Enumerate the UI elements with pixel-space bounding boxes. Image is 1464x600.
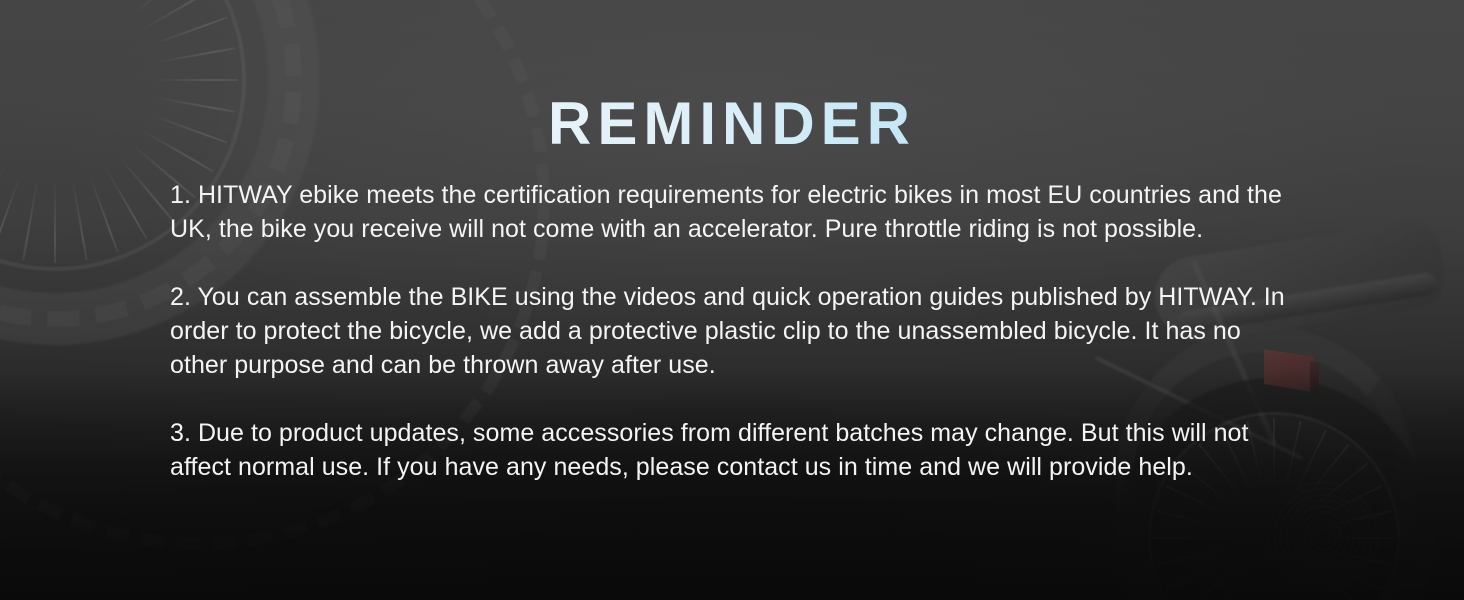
reminder-paragraph-2: 2. You can assemble the BIKE using the v… bbox=[170, 280, 1298, 382]
reminder-paragraph-3: 3. Due to product updates, some accessor… bbox=[170, 416, 1298, 484]
reminder-paragraph-1: 1. HITWAY ebike meets the certification … bbox=[170, 178, 1298, 246]
banner-content: REMINDER 1. HITWAY ebike meets the certi… bbox=[0, 0, 1464, 600]
reminder-text-block: 1. HITWAY ebike meets the certification … bbox=[170, 178, 1298, 484]
reminder-banner: REMINDER 1. HITWAY ebike meets the certi… bbox=[0, 0, 1464, 600]
page-title: REMINDER bbox=[0, 94, 1464, 154]
